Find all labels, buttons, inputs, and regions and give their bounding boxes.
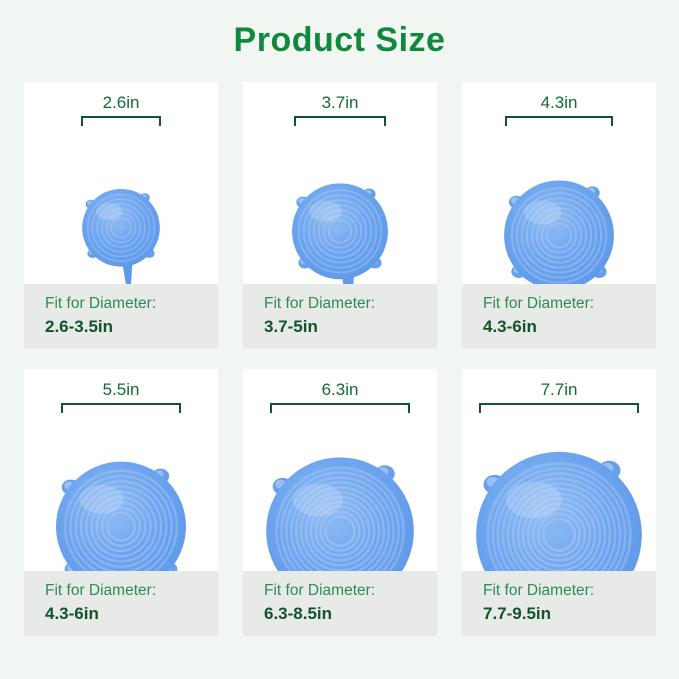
fit-info-band: Fit for Diameter:6.3-8.5in xyxy=(243,571,437,636)
product-figure: 7.7in xyxy=(462,369,656,571)
product-figure: 3.7in xyxy=(243,82,437,284)
silicone-lid-image xyxy=(71,177,172,300)
dimension-label: 6.3in xyxy=(270,379,410,400)
fit-for-diameter-value: 4.3-6in xyxy=(45,602,218,625)
dimension-annotation: 6.3in xyxy=(270,379,410,413)
product-figure: 5.5in xyxy=(24,369,218,571)
product-grid: 2.6in Fit for Diameter:2.6-3.5in3.7in xyxy=(24,82,656,636)
product-card[interactable]: 3.7in Fit for Diameter:3.7-5in xyxy=(243,82,437,349)
fit-for-diameter-value: 3.7-5in xyxy=(264,315,437,338)
product-figure: 6.3in xyxy=(243,369,437,571)
dimension-label: 4.3in xyxy=(505,92,613,113)
fit-info-band: Fit for Diameter:2.6-3.5in xyxy=(24,284,218,349)
dimension-bracket-icon xyxy=(479,403,639,413)
fit-info-band: Fit for Diameter:7.7-9.5in xyxy=(462,571,656,636)
dimension-annotation: 5.5in xyxy=(61,379,181,413)
dimension-annotation: 2.6in xyxy=(81,92,161,126)
product-card[interactable]: 5.5in Fit for Diameter:4.3-6in xyxy=(24,369,218,636)
product-card[interactable]: 6.3in Fit for Diameter:6.3-8.5in xyxy=(243,369,437,636)
fit-for-diameter-label: Fit for Diameter: xyxy=(483,293,656,315)
fit-for-diameter-label: Fit for Diameter: xyxy=(45,293,218,315)
dimension-annotation: 7.7in xyxy=(479,379,639,413)
dimension-label: 7.7in xyxy=(479,379,639,400)
product-card[interactable]: 7.7in Fit for Diameter:7.7-9.5in xyxy=(462,369,656,636)
fit-for-diameter-label: Fit for Diameter: xyxy=(264,580,437,602)
product-figure: 4.3in xyxy=(462,82,656,284)
dimension-bracket-icon xyxy=(270,403,410,413)
dimension-label: 5.5in xyxy=(61,379,181,400)
product-card[interactable]: 2.6in Fit for Diameter:2.6-3.5in xyxy=(24,82,218,349)
fit-info-band: Fit for Diameter:3.7-5in xyxy=(243,284,437,349)
dimension-annotation: 4.3in xyxy=(505,92,613,126)
fit-for-diameter-value: 4.3-6in xyxy=(483,315,656,338)
product-card[interactable]: 4.3in Fit for Diameter:4.3-6in xyxy=(462,82,656,349)
dimension-label: 3.7in xyxy=(294,92,386,113)
dimension-bracket-icon xyxy=(294,116,386,126)
dimension-bracket-icon xyxy=(505,116,613,126)
fit-for-diameter-label: Fit for Diameter: xyxy=(264,293,437,315)
fit-info-band: Fit for Diameter:4.3-6in xyxy=(462,284,656,349)
dimension-annotation: 3.7in xyxy=(294,92,386,126)
fit-info-band: Fit for Diameter:4.3-6in xyxy=(24,571,218,636)
dimension-label: 2.6in xyxy=(81,92,161,113)
fit-for-diameter-value: 6.3-8.5in xyxy=(264,602,437,625)
fit-for-diameter-label: Fit for Diameter: xyxy=(45,580,218,602)
fit-for-diameter-value: 7.7-9.5in xyxy=(483,602,656,625)
fit-for-diameter-label: Fit for Diameter: xyxy=(483,580,656,602)
product-size-infographic: Product Size 2.6in Fit for Diameter:2.6-… xyxy=(0,0,679,679)
page-title: Product Size xyxy=(0,18,679,62)
dimension-bracket-icon xyxy=(81,116,161,126)
product-figure: 2.6in xyxy=(24,82,218,284)
dimension-bracket-icon xyxy=(61,403,181,413)
fit-for-diameter-value: 2.6-3.5in xyxy=(45,315,218,338)
